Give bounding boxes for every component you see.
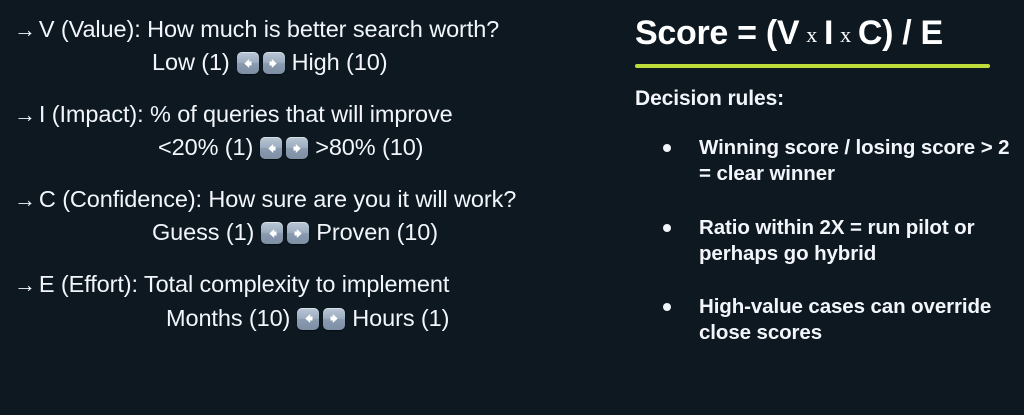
criteria-panel: → V (Value): How much is better search w… bbox=[0, 0, 615, 415]
bullet-icon bbox=[663, 144, 671, 152]
right-arrow-bullet-icon: → bbox=[14, 104, 36, 126]
left-arrow-emoji-icon bbox=[261, 222, 283, 244]
formula-suffix: C) / E bbox=[858, 14, 943, 52]
bullet-icon bbox=[663, 303, 671, 311]
scale-high-label: >80% (10) bbox=[315, 132, 423, 162]
decision-rules-list: Winning score / losing score > 2 = clear… bbox=[635, 111, 1024, 346]
scale-arrow-pair bbox=[260, 137, 308, 159]
scale-arrow-pair bbox=[261, 222, 309, 244]
rule-text: High-value cases can override close scor… bbox=[699, 295, 991, 344]
bullet-icon bbox=[663, 224, 671, 232]
right-arrow-emoji-icon bbox=[263, 52, 285, 74]
rule-text: Ratio within 2X = run pilot or perhaps g… bbox=[699, 216, 974, 265]
criterion-scale-row: Low (1) High (10) bbox=[0, 47, 615, 77]
criterion-heading-text: I (Impact): % of queries that will impro… bbox=[39, 99, 453, 129]
criterion-heading-text: V (Value): How much is better search wor… bbox=[39, 14, 499, 44]
score-formula: Score = (VxIxC) / E bbox=[635, 14, 1024, 53]
formula-panel: Score = (VxIxC) / E Decision rules: Winn… bbox=[615, 0, 1024, 415]
criterion-heading-row: → V (Value): How much is better search w… bbox=[0, 14, 615, 44]
criterion-heading-row: → I (Impact): % of queries that will imp… bbox=[0, 99, 615, 129]
slide-root: → V (Value): How much is better search w… bbox=[0, 0, 1024, 415]
criterion-heading-text: C (Confidence): How sure are you it will… bbox=[39, 184, 516, 214]
left-arrow-emoji-icon bbox=[297, 308, 319, 330]
left-arrow-emoji-icon bbox=[237, 52, 259, 74]
criterion-confidence: → C (Confidence): How sure are you it wi… bbox=[0, 184, 615, 247]
right-arrow-emoji-icon bbox=[286, 137, 308, 159]
criterion-scale-row: Months (10) Hours (1) bbox=[0, 303, 615, 333]
scale-low-label: Low (1) bbox=[152, 47, 230, 77]
formula-prefix: Score = (V bbox=[635, 14, 799, 52]
scale-low-label: <20% (1) bbox=[158, 132, 253, 162]
formula-middle: I bbox=[824, 14, 833, 52]
list-item: High-value cases can override close scor… bbox=[663, 294, 1024, 346]
criterion-heading-row: → E (Effort): Total complexity to implem… bbox=[0, 269, 615, 299]
rule-text: Winning score / losing score > 2 = clear… bbox=[699, 136, 1009, 185]
criterion-value: → V (Value): How much is better search w… bbox=[0, 14, 615, 77]
scale-low-label: Guess (1) bbox=[152, 217, 254, 247]
right-arrow-bullet-icon: → bbox=[14, 274, 36, 296]
scale-low-label: Months (10) bbox=[166, 303, 290, 333]
list-item: Ratio within 2X = run pilot or perhaps g… bbox=[663, 215, 1024, 267]
scale-arrow-pair bbox=[297, 308, 345, 330]
formula-multiply-1: x bbox=[799, 22, 824, 47]
criterion-scale-row: <20% (1) >80% (10) bbox=[0, 132, 615, 162]
criterion-effort: → E (Effort): Total complexity to implem… bbox=[0, 269, 615, 332]
scale-arrow-pair bbox=[237, 52, 285, 74]
scale-high-label: Proven (10) bbox=[316, 217, 438, 247]
criterion-impact: → I (Impact): % of queries that will imp… bbox=[0, 99, 615, 162]
right-arrow-emoji-icon bbox=[323, 308, 345, 330]
scale-high-label: Hours (1) bbox=[352, 303, 449, 333]
right-arrow-bullet-icon: → bbox=[14, 19, 36, 41]
scale-high-label: High (10) bbox=[292, 47, 388, 77]
criterion-scale-row: Guess (1) Proven (10) bbox=[0, 217, 615, 247]
right-arrow-emoji-icon bbox=[287, 222, 309, 244]
list-item: Winning score / losing score > 2 = clear… bbox=[663, 135, 1024, 187]
decision-rules-title: Decision rules: bbox=[635, 87, 1024, 111]
right-arrow-bullet-icon: → bbox=[14, 189, 36, 211]
criterion-heading-text: E (Effort): Total complexity to implemen… bbox=[39, 269, 449, 299]
formula-multiply-2: x bbox=[833, 22, 858, 47]
criterion-heading-row: → C (Confidence): How sure are you it wi… bbox=[0, 184, 615, 214]
left-arrow-emoji-icon bbox=[260, 137, 282, 159]
formula-accent-underline bbox=[635, 64, 990, 68]
